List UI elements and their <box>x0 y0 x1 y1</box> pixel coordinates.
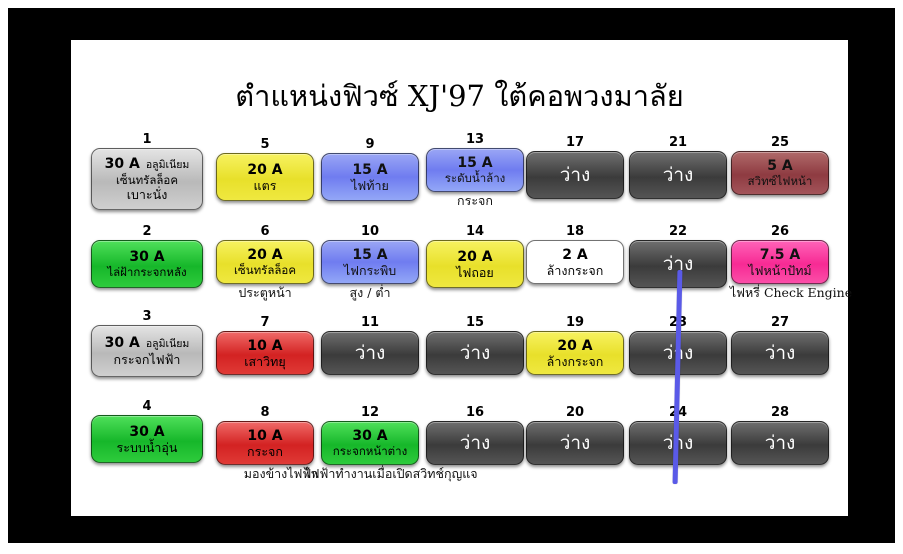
fuse-body-4[interactable]: 30 Aระบบน้ำอุ่น <box>91 415 203 463</box>
fuse-number-3: 3 <box>91 310 203 323</box>
fuse-number-28: 28 <box>731 406 829 419</box>
fuse-body-9[interactable]: 15 Aไฟท้าย <box>321 153 419 201</box>
fuse-label-19-1: ล้างกระจก <box>547 354 604 369</box>
fuse-number-22: 22 <box>629 225 727 238</box>
fuse-label-9-1: ไฟท้าย <box>351 178 389 193</box>
fuse-amp-14: 20 A <box>457 249 492 265</box>
fuse-body-8[interactable]: 10 Aกระจก <box>216 421 314 465</box>
fuse-label-3-1: กระจกไฟฟ้า <box>114 352 181 367</box>
fuse-body-28[interactable]: ว่าง <box>731 421 829 465</box>
fuse-number-13: 13 <box>426 133 524 146</box>
fuse-body-27[interactable]: ว่าง <box>731 331 829 375</box>
fuse-body-12[interactable]: 30 Aกระจกหน้าต่าง <box>321 421 419 465</box>
fuse-amp-note-1: อลูมิเนียม <box>146 157 190 173</box>
fuse-amp-3: 30 A <box>105 335 140 351</box>
fuse-caption-10: สูง / ต่ำ <box>321 286 419 300</box>
fuse-grid: 130 Aอลูมิเนียมเซ็นทรัลล็อคเบาะนั่ง230 A… <box>71 40 848 516</box>
fuse-body-10[interactable]: 15 Aไฟกระพิบ <box>321 240 419 284</box>
fuse-body-2[interactable]: 30 Aไล่ฝ้ากระจกหลัง <box>91 240 203 288</box>
fuse-body-13[interactable]: 15 Aระดับน้ำล้าง <box>426 148 524 192</box>
fuse-caption-13: กระจก <box>426 194 524 208</box>
fuse-number-14: 14 <box>426 225 524 238</box>
fuse-number-18: 18 <box>526 225 624 238</box>
fuse-body-20[interactable]: ว่าง <box>526 421 624 465</box>
fuse-label-14-1: ไฟถอย <box>456 265 494 280</box>
fuse-label-7-1: เสาวิทยุ <box>244 354 286 369</box>
fuse-amp-25: 5 A <box>767 158 792 174</box>
fuse-body-19[interactable]: 20 Aล้างกระจก <box>526 331 624 375</box>
fuse-amp-4: 30 A <box>129 424 164 440</box>
fuse-amp-10: 15 A <box>352 247 387 263</box>
fuse-body-25[interactable]: 5 Aสวิทซ์ไฟหน้า <box>731 151 829 195</box>
fuse-body-26[interactable]: 7.5 Aไฟหน้าปัทม์ <box>731 240 829 284</box>
fuse-caption-26: ไฟหรี่ Check Engine <box>676 286 903 300</box>
fuse-body-21[interactable]: ว่าง <box>629 151 727 199</box>
fuse-label-1-1: เซ็นทรัลล็อค <box>116 173 178 187</box>
fuse-number-10: 10 <box>321 225 419 238</box>
fuse-body-17[interactable]: ว่าง <box>526 151 624 199</box>
fuse-amp-5: 20 A <box>247 162 282 178</box>
fuse-label-18-1: ล้างกระจก <box>547 263 604 278</box>
fuse-number-20: 20 <box>526 406 624 419</box>
fuse-number-8: 8 <box>216 406 314 419</box>
fuse-label-5-1: แตร <box>254 178 277 193</box>
fuse-diagram-sheet: ตำแหน่งฟิวซ์ XJ'97 ใต้คอพวงมาลัย 130 Aอล… <box>71 40 848 516</box>
fuse-number-11: 11 <box>321 316 419 329</box>
fuse-number-12: 12 <box>321 406 419 419</box>
fuse-label-25-1: สวิทซ์ไฟหน้า <box>748 174 813 188</box>
fuse-number-2: 2 <box>91 225 203 238</box>
fuse-empty-label-20: ว่าง <box>560 432 591 454</box>
fuse-amp-row-3: 30 Aอลูมิเนียม <box>105 335 190 352</box>
fuse-number-6: 6 <box>216 225 314 238</box>
fuse-number-4: 4 <box>91 400 203 413</box>
fuse-number-21: 21 <box>629 136 727 149</box>
fuse-amp-7: 10 A <box>247 338 282 354</box>
fuse-amp-2: 30 A <box>129 249 164 265</box>
fuse-number-26: 26 <box>731 225 829 238</box>
fuse-amp-12: 30 A <box>352 428 387 444</box>
fuse-number-15: 15 <box>426 316 524 329</box>
fuse-amp-26: 7.5 A <box>760 247 801 263</box>
fuse-label-12-1: กระจกหน้าต่าง <box>333 444 407 458</box>
fuse-empty-label-15: ว่าง <box>460 342 491 364</box>
fuse-amp-6: 20 A <box>247 247 282 263</box>
fuse-number-25: 25 <box>731 136 829 149</box>
fuse-amp-9: 15 A <box>352 162 387 178</box>
fuse-amp-1: 30 A <box>105 156 140 172</box>
fuse-body-5[interactable]: 20 Aแตร <box>216 153 314 201</box>
fuse-label-26-1: ไฟหน้าปัทม์ <box>748 263 811 278</box>
fuse-label-8-1: กระจก <box>247 444 283 459</box>
fuse-label-13-1: ระดับน้ำล้าง <box>445 171 506 185</box>
fuse-amp-19: 20 A <box>557 338 592 354</box>
fuse-label-6-1: เซ็นทรัลล็อค <box>234 263 296 277</box>
fuse-label-1-2: เบาะนั่ง <box>127 187 168 202</box>
fuse-caption-12: ไฟฟ้าทำงานเมื่อเปิดสวิทช์กุญแจ <box>271 467 511 481</box>
fuse-number-16: 16 <box>426 406 524 419</box>
fuse-number-17: 17 <box>526 136 624 149</box>
fuse-body-11[interactable]: ว่าง <box>321 331 419 375</box>
fuse-body-7[interactable]: 10 Aเสาวิทยุ <box>216 331 314 375</box>
fuse-amp-row-1: 30 Aอลูมิเนียม <box>105 156 190 173</box>
fuse-body-1[interactable]: 30 Aอลูมิเนียมเซ็นทรัลล็อคเบาะนั่ง <box>91 148 203 210</box>
fuse-empty-label-16: ว่าง <box>460 432 491 454</box>
fuse-label-4-1: ระบบน้ำอุ่น <box>117 440 178 455</box>
fuse-empty-label-17: ว่าง <box>560 164 591 186</box>
fuse-label-2-1: ไล่ฝ้ากระจกหลัง <box>107 265 186 279</box>
fuse-body-3[interactable]: 30 Aอลูมิเนียมกระจกไฟฟ้า <box>91 325 203 377</box>
fuse-empty-label-28: ว่าง <box>765 432 796 454</box>
fuse-body-6[interactable]: 20 Aเซ็นทรัลล็อค <box>216 240 314 284</box>
fuse-number-5: 5 <box>216 138 314 151</box>
fuse-body-15[interactable]: ว่าง <box>426 331 524 375</box>
fuse-label-10-1: ไฟกระพิบ <box>344 263 396 278</box>
fuse-empty-label-21: ว่าง <box>663 164 694 186</box>
fuse-amp-8: 10 A <box>247 428 282 444</box>
fuse-body-14[interactable]: 20 Aไฟถอย <box>426 240 524 288</box>
fuse-amp-13: 15 A <box>457 155 492 171</box>
fuse-amp-note-3: อลูมิเนียม <box>146 336 190 352</box>
fuse-body-16[interactable]: ว่าง <box>426 421 524 465</box>
fuse-number-27: 27 <box>731 316 829 329</box>
fuse-empty-label-11: ว่าง <box>355 342 386 364</box>
fuse-number-9: 9 <box>321 138 419 151</box>
fuse-caption-6: ประตูหน้า <box>216 286 314 300</box>
fuse-number-7: 7 <box>216 316 314 329</box>
fuse-number-19: 19 <box>526 316 624 329</box>
fuse-body-18[interactable]: 2 Aล้างกระจก <box>526 240 624 284</box>
fuse-empty-label-27: ว่าง <box>765 342 796 364</box>
fuse-amp-18: 2 A <box>562 247 587 263</box>
fuse-number-1: 1 <box>91 133 203 146</box>
poster-frame: ตำแหน่งฟิวซ์ XJ'97 ใต้คอพวงมาลัย 130 Aอล… <box>8 8 895 543</box>
